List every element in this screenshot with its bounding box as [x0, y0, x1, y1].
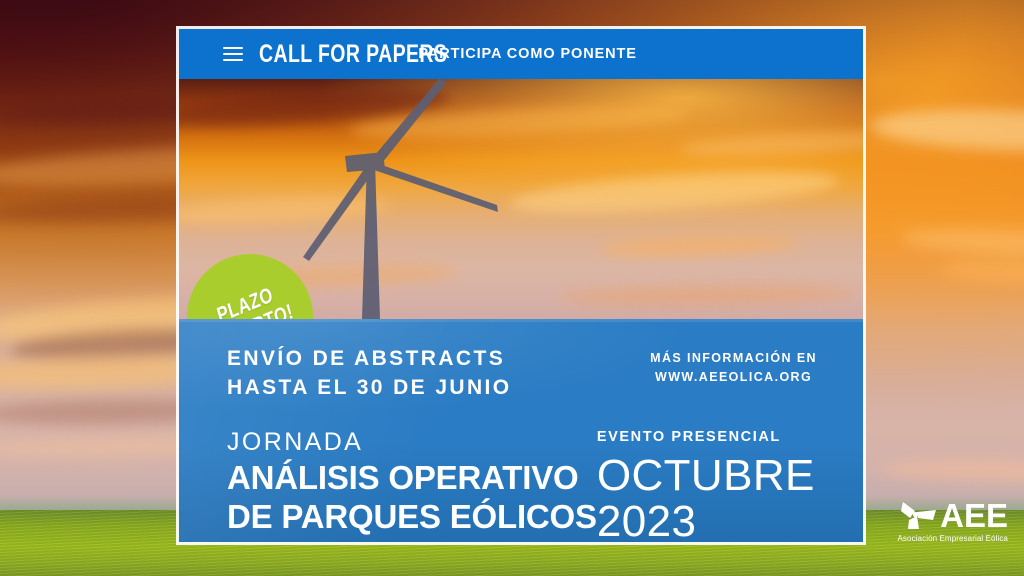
- hamburger-icon[interactable]: [223, 47, 243, 61]
- wind-turbine-icon: [279, 79, 599, 319]
- event-title: ANÁLISIS OPERATIVO DE PARQUES EÓLICOS: [227, 459, 597, 536]
- abstract-line-1: ENVÍO DE ABSTRACTS: [227, 345, 512, 374]
- wind-turbine-icon: [899, 498, 939, 532]
- event-type-label: EVENTO PRESENCIAL: [597, 429, 815, 445]
- photo-cloud: [679, 127, 863, 160]
- event-month: OCTUBRE: [597, 453, 815, 499]
- photo-cloud: [559, 282, 859, 307]
- poster-card: CALL FOR PAPERS PARTICIPA COMO PONENTE: [176, 26, 866, 545]
- event-title-block: JORNADA ANÁLISIS OPERATIVO DE PARQUES EÓ…: [227, 429, 597, 536]
- event-title-line-2: DE PARQUES EÓLICOS: [227, 498, 597, 536]
- cloud-streak: [869, 105, 1024, 154]
- aee-logo: AEE Asociación Empresarial Eólica: [888, 498, 1008, 543]
- poster-photo: PLAZO ABIERTO!: [179, 79, 863, 319]
- abstract-info-row: ENVÍO DE ABSTRACTS HASTA EL 30 DE JUNIO …: [227, 345, 833, 403]
- cloud-streak: [880, 458, 1024, 484]
- event-title-line-1: ANÁLISIS OPERATIVO: [227, 459, 597, 497]
- poster-body: ENVÍO DE ABSTRACTS HASTA EL 30 DE JUNIO …: [179, 319, 863, 545]
- call-for-papers-title: CALL FOR PAPERS: [259, 40, 447, 69]
- photo-cloud: [599, 234, 800, 259]
- abstract-deadline-block: ENVÍO DE ABSTRACTS HASTA EL 30 DE JUNIO: [227, 345, 512, 403]
- aee-tagline: Asociación Empresarial Eólica: [897, 534, 1008, 543]
- event-date: OCTUBRE 2023: [597, 453, 815, 545]
- plazo-abierto-text: PLAZO ABIERTO!: [193, 276, 307, 319]
- participa-como-ponente-label: PARTICIPA COMO PONENTE: [418, 46, 637, 62]
- cloud-streak: [940, 259, 1024, 284]
- more-info-block: MÁS INFORMACIÓN EN WWW.AEEOLICA.ORG: [650, 345, 833, 387]
- event-title-row: JORNADA ANÁLISIS OPERATIVO DE PARQUES EÓ…: [227, 429, 833, 545]
- event-year: 2023: [597, 499, 815, 545]
- more-info-label: MÁS INFORMACIÓN EN: [650, 349, 817, 368]
- event-date-block: EVENTO PRESENCIAL OCTUBRE 2023: [597, 429, 843, 545]
- screenshot-stage: CALL FOR PAPERS PARTICIPA COMO PONENTE: [0, 0, 1024, 576]
- poster-header: CALL FOR PAPERS PARTICIPA COMO PONENTE: [179, 29, 863, 79]
- cloud-streak: [899, 224, 1024, 261]
- website-url[interactable]: WWW.AEEOLICA.ORG: [650, 368, 817, 387]
- abstract-line-2: HASTA EL 30 DE JUNIO: [227, 374, 512, 403]
- jornada-kicker: JORNADA: [227, 429, 597, 457]
- aee-letters: AEE: [940, 499, 1008, 532]
